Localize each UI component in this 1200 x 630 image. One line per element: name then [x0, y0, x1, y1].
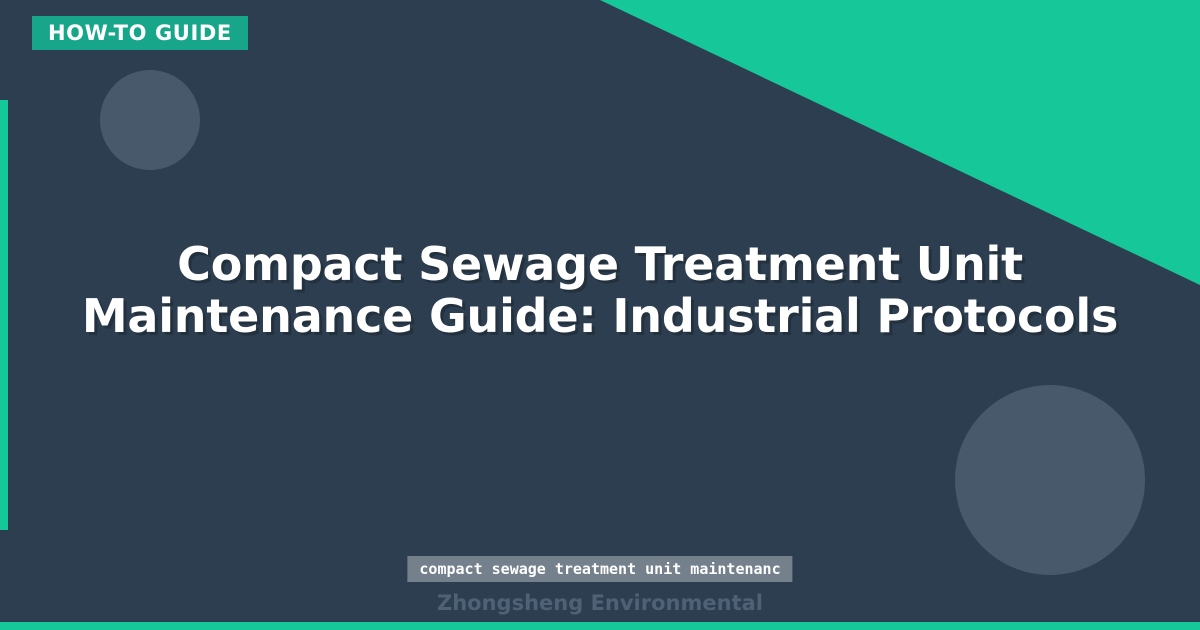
category-badge-label: HOW-TO GUIDE	[48, 23, 232, 44]
category-badge: HOW-TO GUIDE	[32, 16, 248, 50]
brand-name: Zhongsheng Environmental	[0, 590, 1200, 616]
decorative-circle-top-left	[100, 70, 200, 170]
social-card: HOW-TO GUIDE Compact Sewage Treatment Un…	[0, 0, 1200, 630]
page-title-line-2: Maintenance Guide: Industrial Protocols	[56, 290, 1144, 342]
page-title: Compact Sewage Treatment Unit Maintenanc…	[0, 238, 1200, 342]
keyword-tag-label: compact sewage treatment unit maintenanc	[419, 562, 780, 577]
keyword-tag: compact sewage treatment unit maintenanc	[407, 556, 792, 582]
bottom-accent-bar	[0, 622, 1200, 630]
page-title-line-1: Compact Sewage Treatment Unit	[56, 238, 1144, 290]
decorative-circle-bottom-right	[955, 385, 1145, 575]
